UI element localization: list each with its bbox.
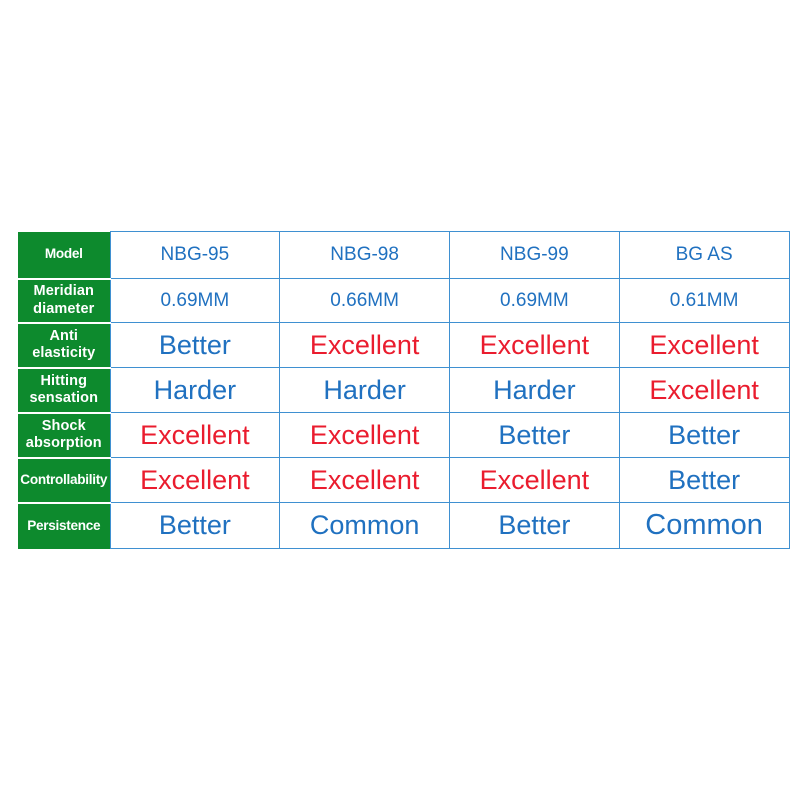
cell-controllability-c1: Excellent [110, 458, 280, 503]
cell-controllability-c3: Excellent [450, 458, 620, 503]
cell-persistence-c3: Better [450, 503, 620, 549]
cell-controllability-c4: Better [619, 458, 789, 503]
row-header-label-line2: absorption [18, 435, 110, 452]
table-row: ModelNBG-95NBG-98NBG-99BG AS [18, 232, 789, 279]
cell-hitting-sensation-c3: Harder [450, 368, 620, 413]
cell-hitting-sensation-c4: Excellent [619, 368, 789, 413]
row-header-label-line1: Persistence [18, 518, 110, 534]
cell-model-c4: BG AS [619, 232, 789, 279]
row-header-label-line1: Shock [18, 418, 110, 435]
table-row: PersistenceBetterCommonBetterCommon [18, 503, 789, 549]
page-root: ModelNBG-95NBG-98NBG-99BG ASMeridiandiam… [0, 0, 800, 800]
cell-hitting-sensation-c1: Harder [110, 368, 280, 413]
cell-persistence-c1: Better [110, 503, 280, 549]
cell-persistence-c2: Common [280, 503, 450, 549]
row-header-controllability: Controllability [18, 458, 110, 503]
cell-meridian-diameter-c4: 0.61MM [619, 279, 789, 323]
row-header-anti-elasticity: Antielasticity [18, 323, 110, 368]
row-header-model: Model [18, 232, 110, 279]
row-header-label-line2: diameter [18, 301, 110, 318]
table-row: ShockabsorptionExcellentExcellentBetterB… [18, 413, 789, 458]
product-comparison-table: ModelNBG-95NBG-98NBG-99BG ASMeridiandiam… [18, 231, 790, 549]
cell-anti-elasticity-c4: Excellent [619, 323, 789, 368]
table-body: ModelNBG-95NBG-98NBG-99BG ASMeridiandiam… [18, 232, 789, 549]
table-row: Meridiandiameter0.69MM0.66MM0.69MM0.61MM [18, 279, 789, 323]
cell-meridian-diameter-c1: 0.69MM [110, 279, 280, 323]
table-row: AntielasticityBetterExcellentExcellentEx… [18, 323, 789, 368]
cell-anti-elasticity-c3: Excellent [450, 323, 620, 368]
cell-hitting-sensation-c2: Harder [280, 368, 450, 413]
cell-model-c2: NBG-98 [280, 232, 450, 279]
row-header-persistence: Persistence [18, 503, 110, 549]
row-header-shock-absorption: Shockabsorption [18, 413, 110, 458]
cell-persistence-c4: Common [619, 503, 789, 549]
row-header-meridian-diameter: Meridiandiameter [18, 279, 110, 323]
cell-controllability-c2: Excellent [280, 458, 450, 503]
row-header-label-line2: sensation [18, 390, 110, 407]
row-header-label-line1: Controllability [18, 472, 110, 488]
cell-shock-absorption-c3: Better [450, 413, 620, 458]
row-header-label-line2: elasticity [18, 345, 110, 362]
cell-meridian-diameter-c2: 0.66MM [280, 279, 450, 323]
cell-shock-absorption-c2: Excellent [280, 413, 450, 458]
row-header-hitting-sensation: Hittingsensation [18, 368, 110, 413]
cell-anti-elasticity-c1: Better [110, 323, 280, 368]
row-header-label-line1: Model [18, 246, 110, 262]
cell-shock-absorption-c1: Excellent [110, 413, 280, 458]
cell-model-c3: NBG-99 [450, 232, 620, 279]
cell-shock-absorption-c4: Better [619, 413, 789, 458]
cell-anti-elasticity-c2: Excellent [280, 323, 450, 368]
table-row: HittingsensationHarderHarderHarderExcell… [18, 368, 789, 413]
cell-model-c1: NBG-95 [110, 232, 280, 279]
table-row: ControllabilityExcellentExcellentExcelle… [18, 458, 789, 503]
row-header-label-line1: Hitting [18, 373, 110, 390]
row-header-label-line1: Anti [18, 328, 110, 345]
cell-meridian-diameter-c3: 0.69MM [450, 279, 620, 323]
row-header-label-line1: Meridian [18, 283, 110, 300]
